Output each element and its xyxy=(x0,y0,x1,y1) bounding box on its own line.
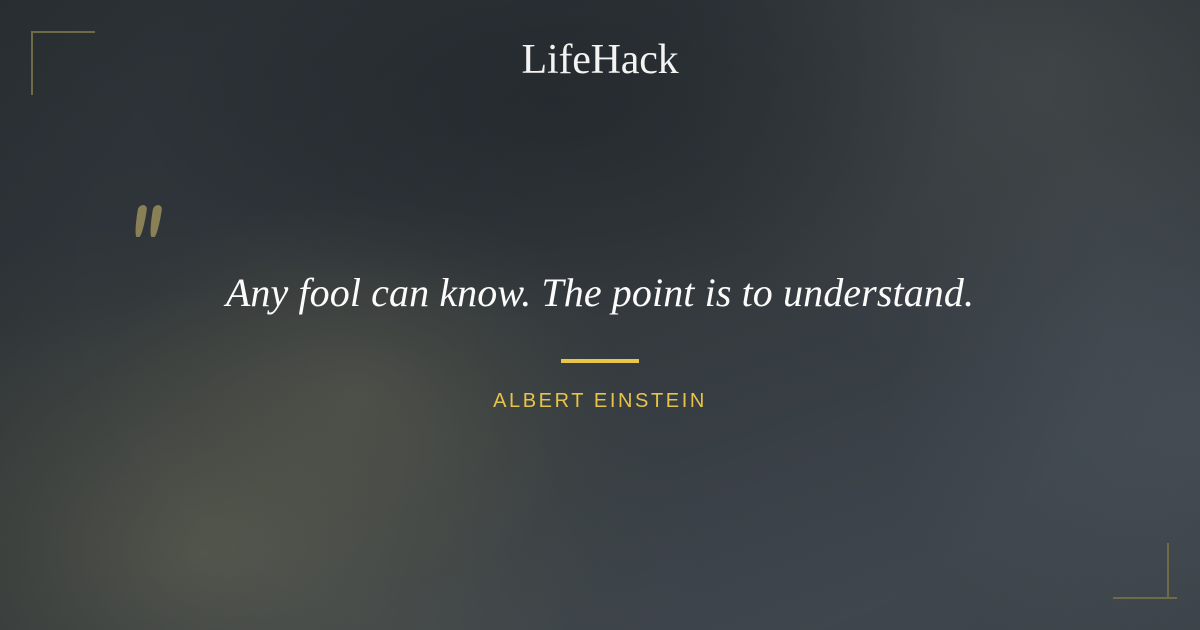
quote-card: LifeHack Any fool can know. The point is… xyxy=(0,0,1200,630)
corner-bracket-bottom-right xyxy=(1105,535,1169,599)
quote-author: ALBERT EINSTEIN xyxy=(0,388,1200,414)
lifehack-logo[interactable]: LifeHack xyxy=(0,36,1200,84)
gold-divider xyxy=(561,359,639,363)
corner-bracket-bottom-right-vertical xyxy=(1167,543,1169,599)
corner-bracket-top-left-horizontal xyxy=(31,31,95,33)
quote-text: Any fool can know. The point is to under… xyxy=(60,268,1140,318)
quotation-mark-stroke-left xyxy=(133,205,147,237)
quotation-mark-stroke-right xyxy=(148,205,162,237)
quotation-mark-icon xyxy=(136,204,166,240)
